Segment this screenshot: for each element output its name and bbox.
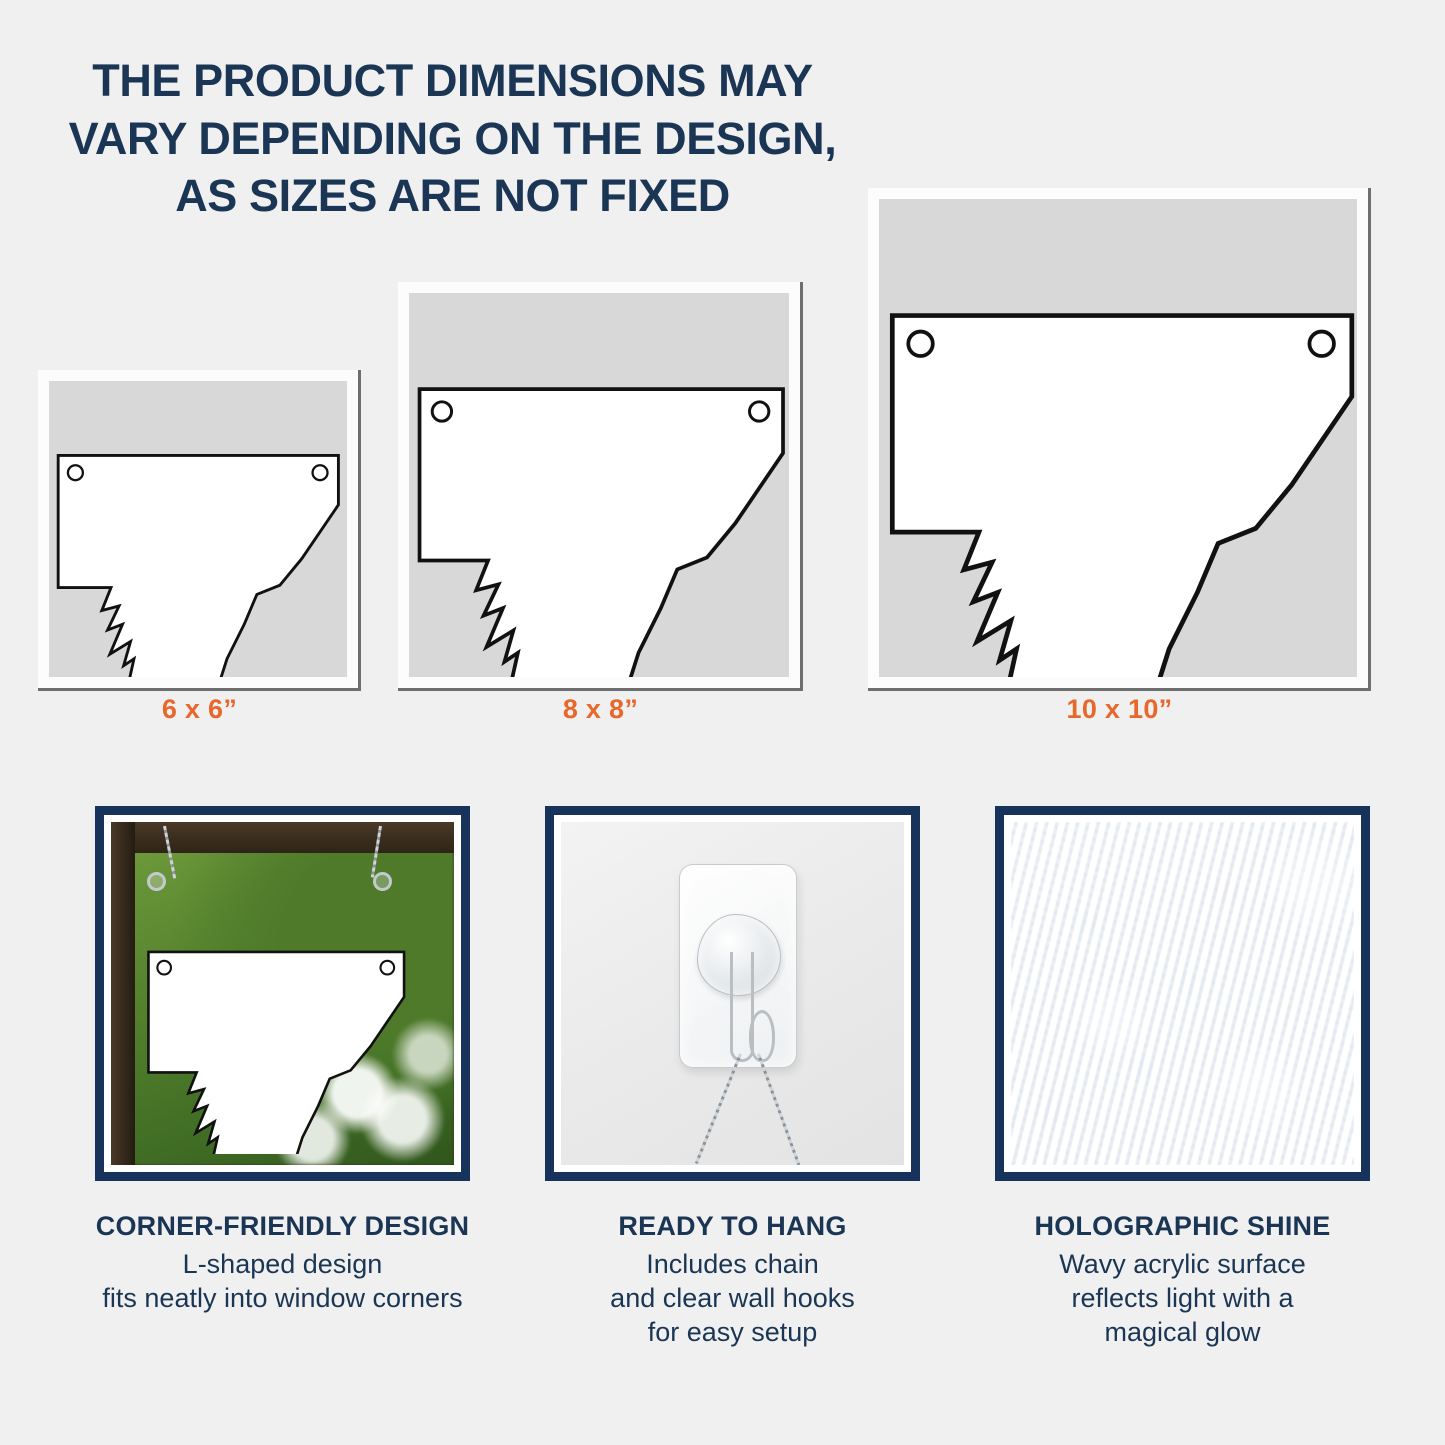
suncatcher-in-window: Kylie Nash 1959 - 2025 — [141, 884, 411, 1154]
size-option-10x10[interactable]: Kylie Nash 1959 - 2025 — [868, 188, 1368, 688]
feature-caption-2: READY TO HANG Includes chain and clear w… — [503, 1211, 963, 1349]
feature-desc-1-line-1: L-shaped design — [53, 1248, 513, 1282]
feature-image-frame-3 — [995, 806, 1370, 1181]
size-option-6x6[interactable]: Kylie Nash 1959 - 2025 — [38, 370, 358, 688]
feature-caption-1: CORNER-FRIENDLY DESIGN L-shaped design f… — [53, 1211, 513, 1316]
measure-bracket-horizontal-10x10 — [868, 688, 1371, 691]
measure-bracket-vertical-6x6 — [358, 370, 361, 691]
size-option-8x8[interactable]: Kylie Nash 1959 - 2025 — [398, 282, 800, 688]
hook-scene — [561, 822, 904, 1165]
suncatcher-preview-6x6: Kylie Nash 1959 - 2025 — [49, 381, 347, 677]
size-card-frame-6x6: Kylie Nash 1959 - 2025 — [38, 370, 358, 688]
feature-desc-1-line-2: fits neatly into window corners — [53, 1282, 513, 1316]
size-label-6x6: 6 x 6” — [38, 694, 361, 725]
feature-desc-3-line-3: magical glow — [953, 1316, 1413, 1350]
product-infographic: THE PRODUCT DIMENSIONS MAY VARY DEPENDIN… — [0, 0, 1445, 1445]
window-corner-photo: Kylie Nash 1959 - 2025 — [111, 822, 454, 1165]
feature-desc-2-line-2: and clear wall hooks — [503, 1282, 963, 1316]
feature-image-frame-2 — [545, 806, 920, 1181]
suncatcher-preview-8x8: Kylie Nash 1959 - 2025 — [409, 293, 789, 677]
feature-title-1: CORNER-FRIENDLY DESIGN — [53, 1211, 513, 1242]
size-card-panel-6x6: Kylie Nash 1959 - 2025 — [49, 381, 347, 677]
size-label-10x10: 10 x 10” — [868, 694, 1371, 725]
measure-bracket-horizontal-8x8 — [398, 688, 803, 691]
size-card-panel-10x10: Kylie Nash 1959 - 2025 — [879, 199, 1357, 677]
size-comparison-row: Kylie Nash 1959 - 2025 6 x 6” Kylie Nash — [0, 0, 1445, 760]
feature-desc-3-line-1: Wavy acrylic surface — [953, 1248, 1413, 1282]
measure-bracket-vertical-10x10 — [1368, 188, 1371, 691]
wall-hook-photo — [561, 822, 904, 1165]
suncatcher-preview-10x10: Kylie Nash 1959 - 2025 — [879, 199, 1357, 677]
feature-desc-3-line-2: reflects light with a — [953, 1282, 1413, 1316]
feature-desc-3: Wavy acrylic surface reflects light with… — [953, 1248, 1413, 1349]
holographic-speculars — [1011, 822, 1354, 1165]
measure-bracket-vertical-8x8 — [800, 282, 803, 691]
window-frame-left — [111, 822, 135, 1165]
chain-strand-left — [695, 1053, 742, 1164]
feature-title-2: READY TO HANG — [503, 1211, 963, 1242]
feature-corner-friendly-design: Kylie Nash 1959 - 2025 CORNER-FRIENDLY D… — [95, 806, 470, 1181]
measure-bracket-horizontal-6x6 — [38, 688, 361, 691]
size-card-frame-10x10: Kylie Nash 1959 - 2025 — [868, 188, 1368, 688]
feature-desc-1: L-shaped design fits neatly into window … — [53, 1248, 513, 1316]
feature-caption-3: HOLOGRAPHIC SHINE Wavy acrylic surface r… — [953, 1211, 1413, 1349]
size-card-frame-8x8: Kylie Nash 1959 - 2025 — [398, 282, 800, 688]
feature-holographic-shine: HOLOGRAPHIC SHINE Wavy acrylic surface r… — [995, 806, 1370, 1181]
feature-title-3: HOLOGRAPHIC SHINE — [953, 1211, 1413, 1242]
chain-strand-right — [757, 1053, 800, 1165]
feature-ready-to-hang: READY TO HANG Includes chain and clear w… — [545, 806, 920, 1181]
hook-loop — [749, 1010, 775, 1062]
size-label-8x8: 8 x 8” — [398, 694, 803, 725]
feature-desc-2-line-1: Includes chain — [503, 1248, 963, 1282]
size-card-panel-8x8: Kylie Nash 1959 - 2025 — [409, 293, 789, 677]
holographic-texture-photo — [1011, 822, 1354, 1165]
feature-desc-2: Includes chain and clear wall hooks for … — [503, 1248, 963, 1349]
window-scene: Kylie Nash 1959 - 2025 — [111, 822, 454, 1165]
feature-desc-2-line-3: for easy setup — [503, 1316, 963, 1350]
feature-image-frame-1: Kylie Nash 1959 - 2025 — [95, 806, 470, 1181]
